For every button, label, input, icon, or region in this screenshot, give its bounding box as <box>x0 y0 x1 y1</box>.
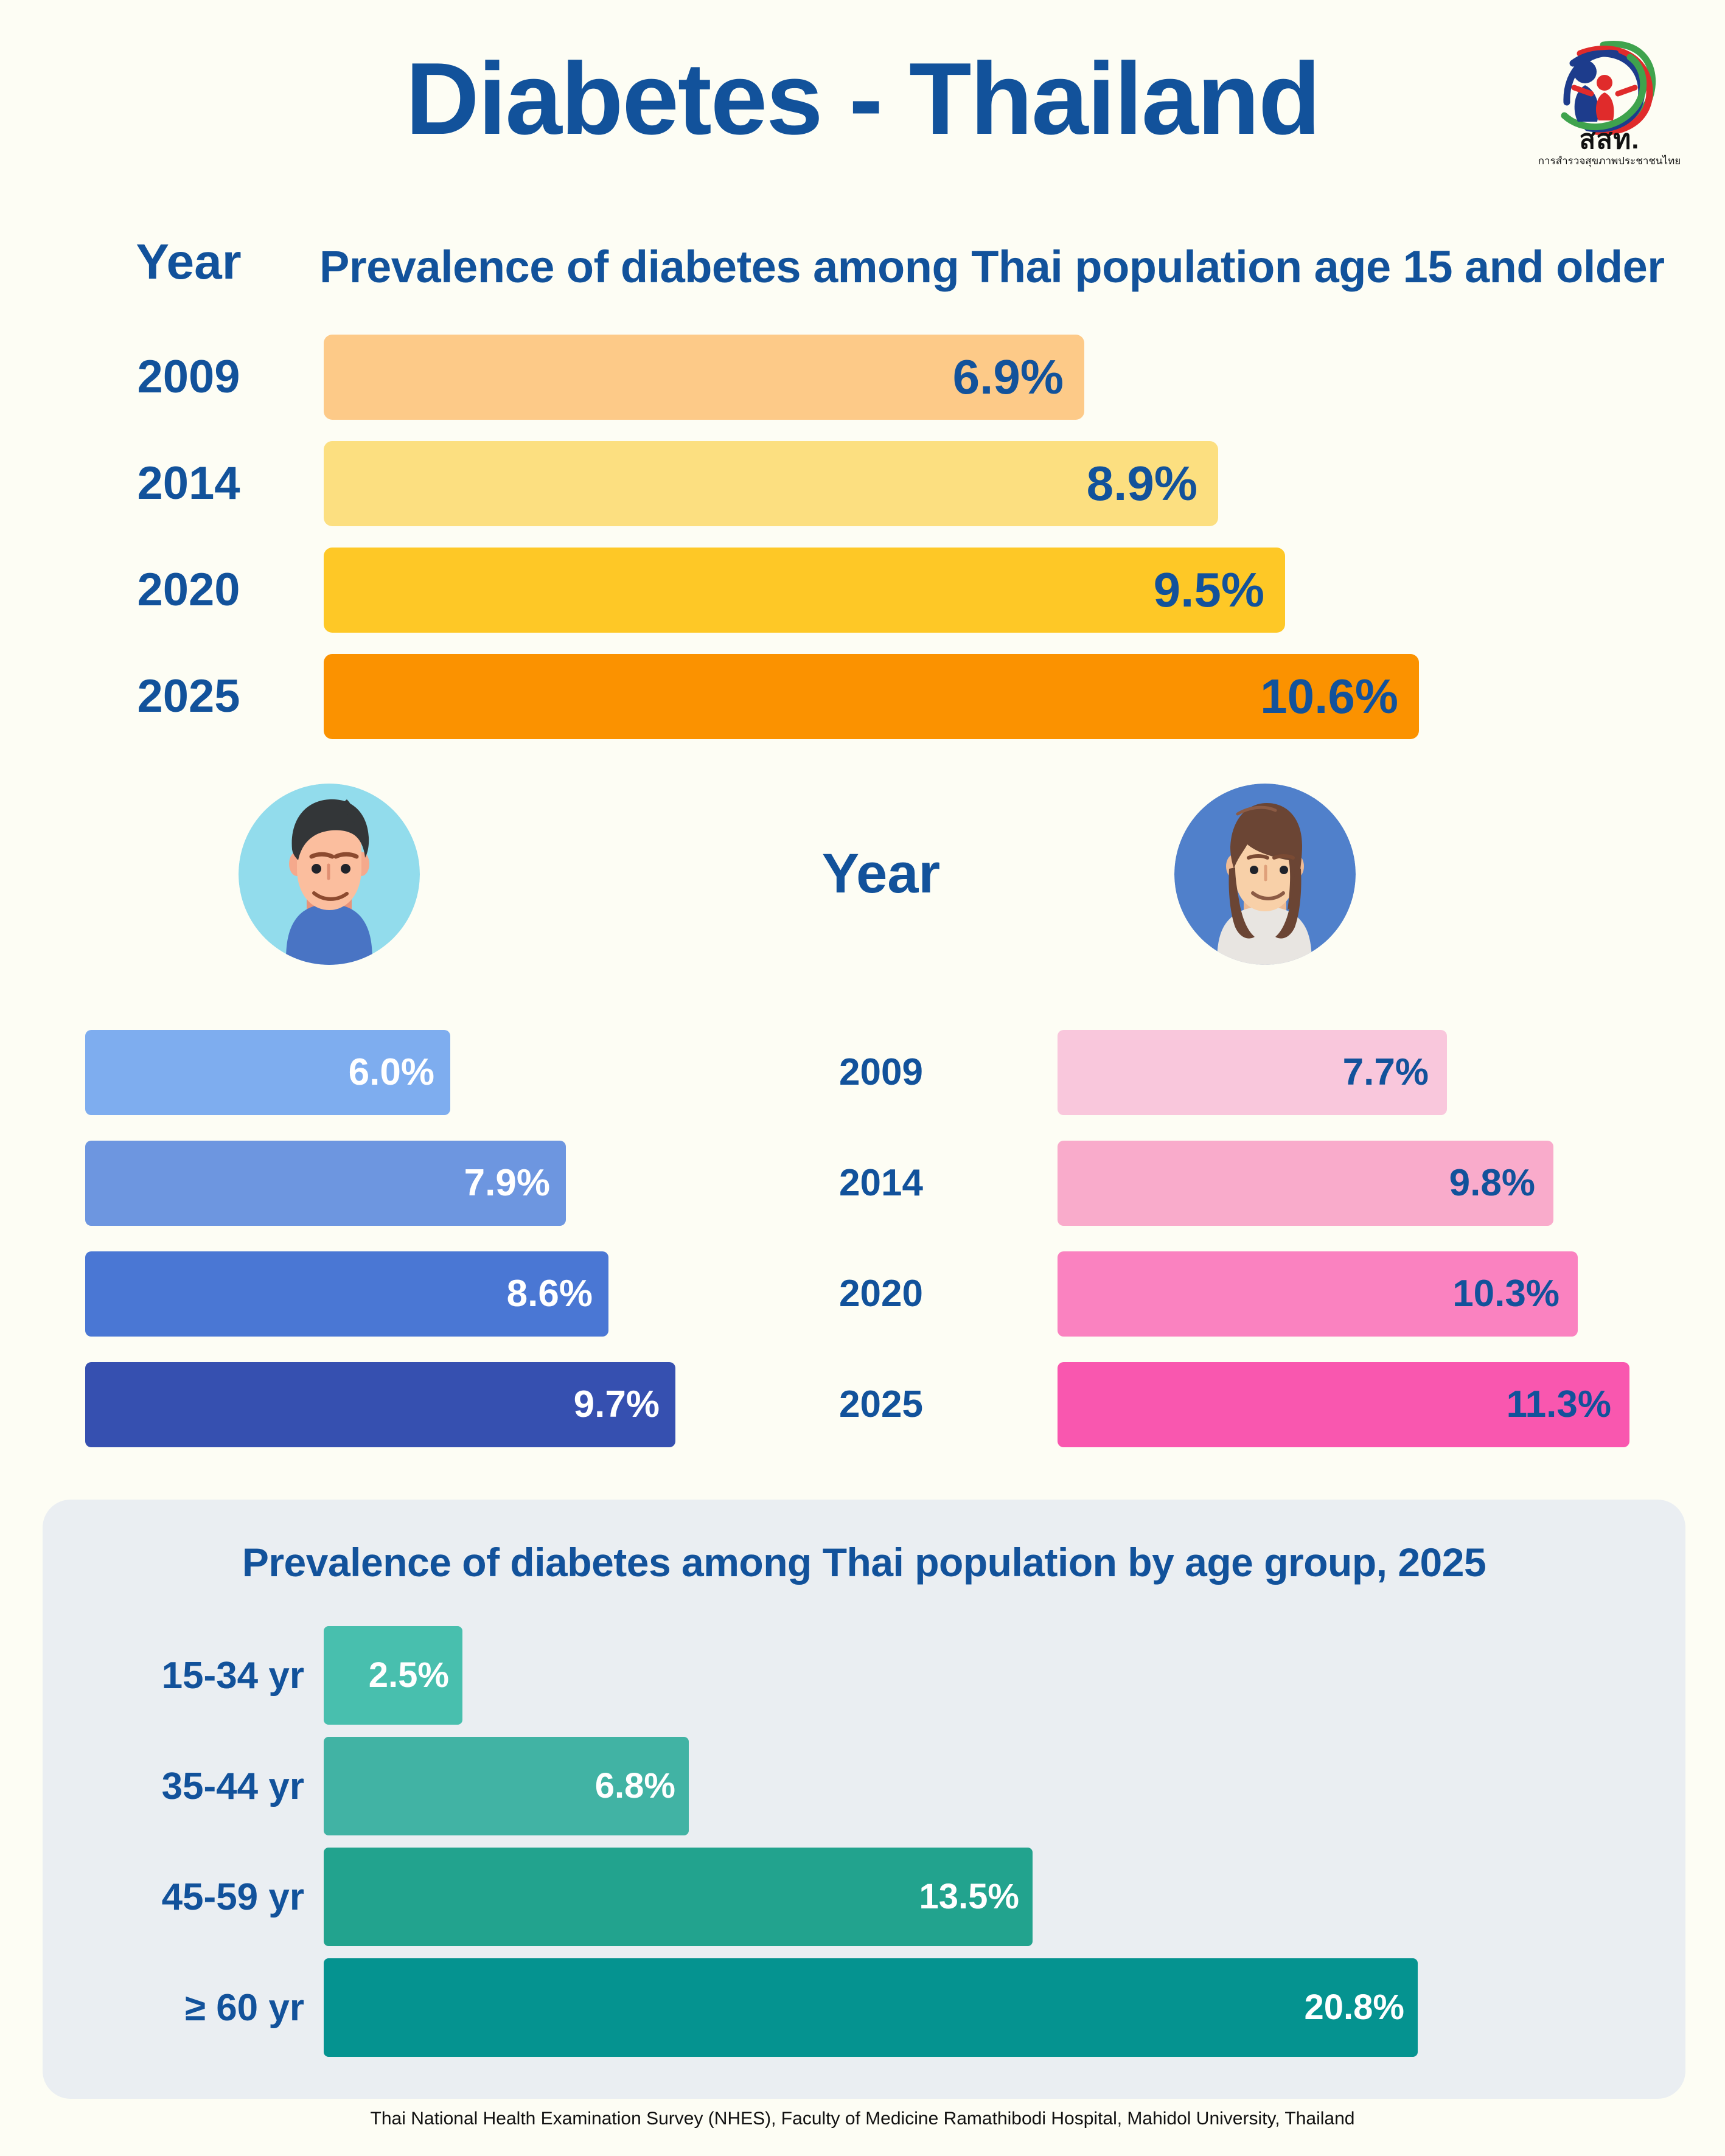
overall-year-label: 2014 <box>85 430 292 537</box>
overall-value-2025: 10.6% <box>1260 672 1398 721</box>
sex-year-label: 2025 <box>699 1347 1064 1462</box>
age-bar-35-44: 6.8% <box>324 1737 689 1835</box>
male-value-2025: 9.7% <box>574 1386 660 1424</box>
male-bar-2009: 6.0% <box>85 1030 450 1115</box>
age-value-60-plus: 20.8% <box>1305 1990 1404 2025</box>
logo-subtitle: การสำรวจสุขภาพประชาชนไทย <box>1538 156 1681 166</box>
female-value-2009: 7.7% <box>1343 1054 1429 1091</box>
age-value-15-34: 2.5% <box>369 1658 449 1693</box>
overall-value-2020: 9.5% <box>1154 566 1264 614</box>
female-bar-2025: 11.3% <box>1058 1362 1629 1447</box>
sex-year-label: 2014 <box>699 1125 1064 1241</box>
female-bar-2014: 9.8% <box>1058 1141 1553 1226</box>
female-avatar-icon <box>1174 784 1356 965</box>
age-group-label-15-34: 15-34 yr <box>67 1621 310 1731</box>
sex-bar-row: 6.0% 2009 7.7% <box>0 1015 1725 1130</box>
overall-value-2009: 6.9% <box>953 353 1064 402</box>
overall-bar-row: 2020 9.5% <box>0 537 1725 643</box>
overall-value-2014: 8.9% <box>1087 459 1197 508</box>
age-group-label-45-59: 45-59 yr <box>67 1843 310 1952</box>
age-bar-row: 45-59 yr 13.5% <box>43 1843 1685 1952</box>
overall-bar-2025: 10.6% <box>324 654 1419 739</box>
year-column-header: Year <box>85 237 292 287</box>
male-bar-2020: 8.6% <box>85 1251 608 1337</box>
female-value-2025: 11.3% <box>1507 1386 1611 1424</box>
logo-acronym: สสท. <box>1538 127 1681 153</box>
age-group-label-60-plus: ≥ 60 yr <box>67 1953 310 2063</box>
sex-bar-row: 9.7% 2025 11.3% <box>0 1347 1725 1462</box>
age-value-35-44: 6.8% <box>595 1768 675 1804</box>
male-value-2014: 7.9% <box>464 1164 550 1202</box>
male-value-2009: 6.0% <box>349 1054 434 1091</box>
overall-bar-2014: 8.9% <box>324 441 1218 526</box>
source-footnote: Thai National Health Examination Survey … <box>0 2110 1725 2128</box>
overall-bar-row: 2025 10.6% <box>0 643 1725 749</box>
age-group-label-35-44: 35-44 yr <box>67 1732 310 1841</box>
sex-year-label: 2020 <box>699 1236 1064 1352</box>
overall-year-label: 2020 <box>85 537 292 643</box>
male-bar-2014: 7.9% <box>85 1141 566 1226</box>
age-bar-row: 15-34 yr 2.5% <box>43 1621 1685 1731</box>
female-value-2020: 10.3% <box>1452 1275 1559 1313</box>
logo-swirl-icon <box>1538 35 1681 139</box>
age-value-45-59: 13.5% <box>919 1879 1019 1914</box>
age-chart-title: Prevalence of diabetes among Thai popula… <box>43 1542 1685 1582</box>
overall-year-label: 2009 <box>85 324 292 430</box>
age-bar-15-34: 2.5% <box>324 1626 462 1725</box>
prevalence-by-sex-chart: Year 6.0% 2009 7.7% 7.9% 2014 9.8% 8.6% … <box>0 767 1725 1436</box>
male-value-2020: 8.6% <box>507 1275 593 1313</box>
sex-bar-row: 7.9% 2014 9.8% <box>0 1125 1725 1241</box>
male-bar-2025: 9.7% <box>85 1362 675 1447</box>
sex-year-column-header: Year <box>699 846 1064 902</box>
age-bar-60-plus: 20.8% <box>324 1958 1418 2057</box>
female-bar-2020: 10.3% <box>1058 1251 1578 1337</box>
prevalence-by-age-panel: Prevalence of diabetes among Thai popula… <box>43 1500 1685 2099</box>
overall-bar-2020: 9.5% <box>324 548 1285 633</box>
male-avatar-icon <box>239 784 420 965</box>
overall-chart-title: Prevalence of diabetes among Thai popula… <box>319 245 1665 290</box>
female-value-2014: 9.8% <box>1449 1164 1535 1202</box>
age-bar-45-59: 13.5% <box>324 1848 1033 1946</box>
overall-year-label: 2025 <box>85 643 292 749</box>
overall-bar-2009: 6.9% <box>324 335 1084 420</box>
age-bar-row: 35-44 yr 6.8% <box>43 1732 1685 1841</box>
page-title: Diabetes - Thailand <box>0 47 1725 150</box>
overall-bar-row: 2014 8.9% <box>0 430 1725 537</box>
page-header: Diabetes - Thailand สสท. การสำรวจสุขภาพป… <box>0 0 1725 201</box>
overall-bar-row: 2009 6.9% <box>0 324 1725 430</box>
overall-prevalence-chart: Year Prevalence of diabetes among Thai p… <box>0 201 1725 767</box>
sex-year-label: 2009 <box>699 1015 1064 1130</box>
age-bar-row: ≥ 60 yr 20.8% <box>43 1953 1685 2063</box>
logo-emblem-icon <box>1538 35 1681 139</box>
female-bar-2009: 7.7% <box>1058 1030 1447 1115</box>
sex-bar-row: 8.6% 2020 10.3% <box>0 1236 1725 1352</box>
nhes-logo: สสท. การสำรวจสุขภาพประชาชนไทย <box>1538 35 1681 170</box>
